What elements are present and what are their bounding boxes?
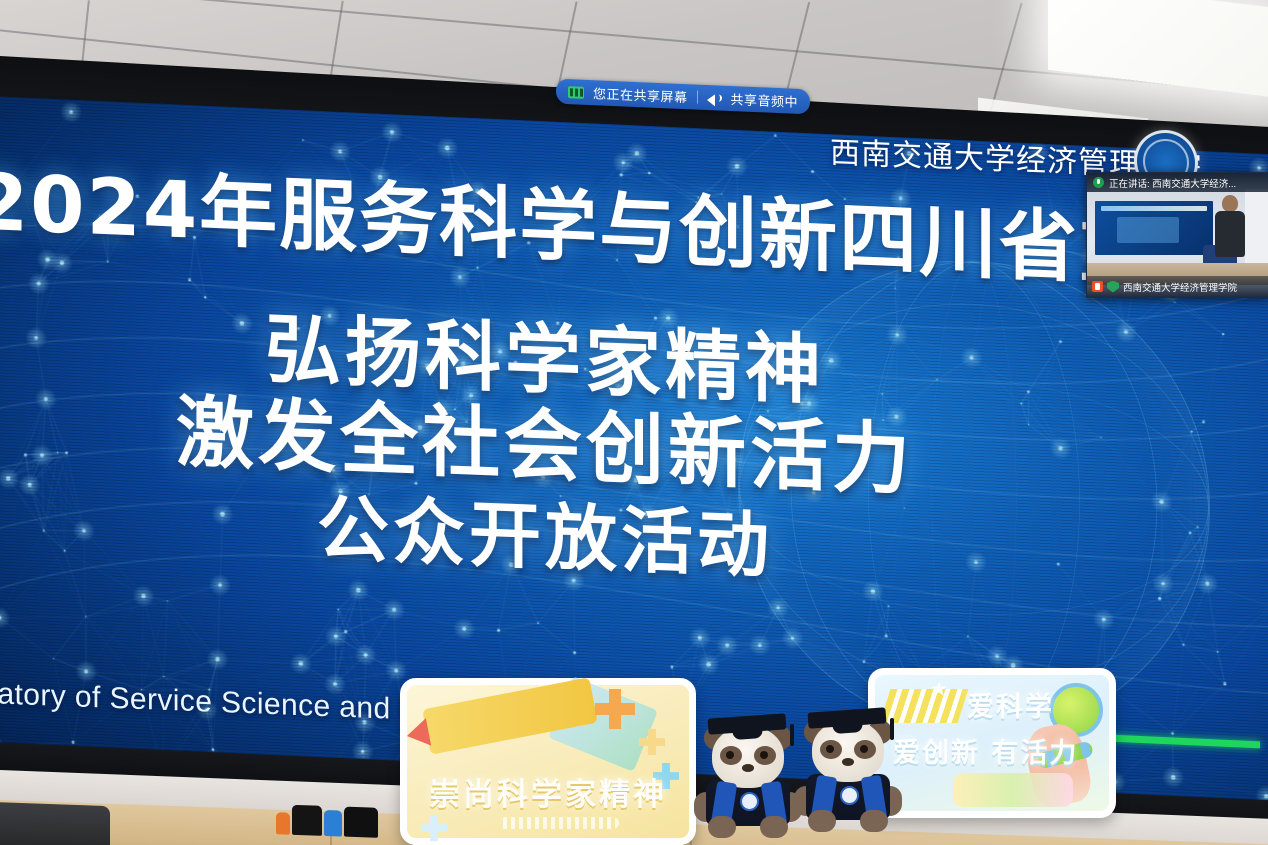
participant-name-label: 西南交通大学经济管理学院: [1123, 280, 1237, 294]
pin-icon[interactable]: [1092, 281, 1103, 292]
remote-room-screen: [1095, 201, 1213, 255]
screen-share-icon: [568, 86, 584, 99]
active-speaker-bar: 正在讲话: 西南交通大学经济...: [1087, 173, 1268, 192]
prop-board-right-line-2: 爱创新 有活力: [893, 731, 1078, 770]
active-speaker-label: 正在讲话: 西南交通大学经济...: [1109, 176, 1236, 190]
remote-presenter: [1215, 195, 1245, 257]
microphone-icon: [1093, 177, 1104, 188]
prop-board-left: 崇尚科学家精神: [400, 678, 696, 845]
ceiling-light-panel: [1048, 0, 1268, 98]
screen-share-label: 您正在共享屏幕: [593, 83, 688, 106]
audio-share-label: 共享音频中: [731, 89, 799, 111]
prop-board-right: 爱科学 爱创新 有活力: [868, 668, 1116, 818]
panda-plush-left: [700, 718, 796, 834]
video-thumbnail[interactable]: 正在讲话: 西南交通大学经济... 西南交通大学经济管理学院: [1086, 172, 1268, 298]
slide-headline: 弘扬科学家精神 激发全社会创新活力 公众开放活动: [0, 299, 1090, 596]
status-divider: [697, 91, 698, 104]
prop-board-right-line-1: 爱科学: [967, 685, 1054, 724]
desk-objects: [276, 804, 378, 838]
foreground-chair: [0, 802, 110, 845]
cross-decoration-icon: [421, 815, 447, 841]
speaker-icon: [707, 91, 722, 105]
prop-board-left-text: 崇尚科学家精神: [407, 769, 689, 814]
shield-icon: [1107, 281, 1119, 293]
screenshot-stage: 2024年服务科学与创新四川省重点实 弘扬科学家精神 激发全社会创新活力 公众开…: [0, 0, 1268, 845]
participant-name-bar: 西南交通大学经济管理学院: [1087, 276, 1268, 297]
